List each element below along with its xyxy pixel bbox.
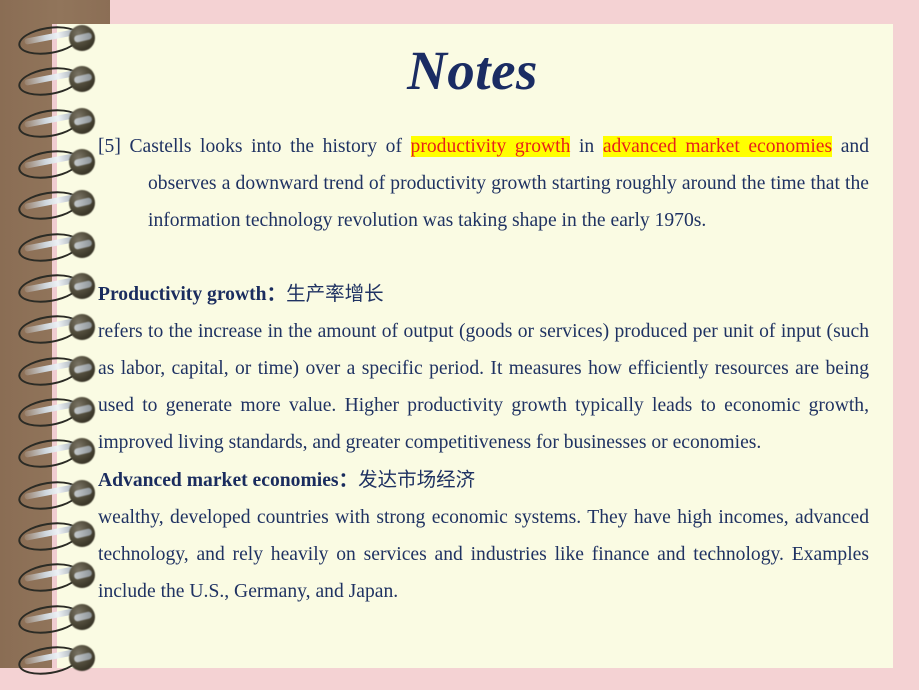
definition-term-1: Productivity growth <box>98 284 267 305</box>
definition-colon-2: ： <box>339 470 359 491</box>
definition-text-2: wealthy, developed countries with strong… <box>98 499 869 610</box>
definition-colon-1: ： <box>267 284 287 305</box>
notebook-page: Notes [5] Castells looks into the histor… <box>52 24 893 668</box>
paragraph-spacer <box>98 239 869 275</box>
highlight-productivity-growth: productivity growth <box>411 136 571 157</box>
definition-translation-1: 生产率增长 <box>286 282 384 305</box>
definition-heading-2: Advanced market economies：发达市场经济 <box>98 461 869 499</box>
page-content: Notes [5] Castells looks into the histor… <box>52 24 893 668</box>
paragraph-text-middle: in <box>579 136 594 157</box>
definition-translation-2: 发达市场经济 <box>358 468 475 491</box>
paragraph-castells: [5] Castells looks into the history of p… <box>98 128 869 239</box>
page-title: Notes <box>52 43 893 98</box>
item-marker: [5] <box>98 136 121 157</box>
definition-text-1: refers to the increase in the amount of … <box>98 313 869 461</box>
highlight-advanced-market-economies: advanced market economies <box>603 136 832 157</box>
definition-heading-1: Productivity growth：生产率增长 <box>98 275 869 313</box>
notes-body: [5] Castells looks into the history of p… <box>98 128 869 610</box>
paragraph-text-before: Castells looks into the history of <box>129 136 410 157</box>
slide-canvas: Notes [5] Castells looks into the histor… <box>0 0 919 690</box>
definition-term-2: Advanced market economies <box>98 470 339 491</box>
